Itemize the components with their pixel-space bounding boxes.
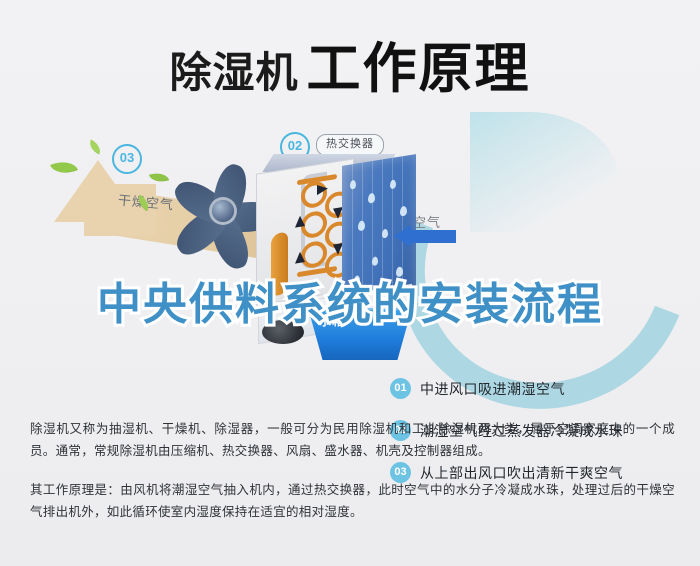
heat-exchanger-callout: 热交换器 (316, 134, 384, 156)
body-paragraph-2: 其工作原理是：由风机将潮湿空气抽入机内，通过热交换器，此时空气中的水分子冷凝成水… (30, 479, 675, 523)
flow-arrow-up-icon (295, 251, 305, 264)
infographic-page: 除湿机工作原理 潮湿空气 01 干燥空气 03 (0, 0, 700, 566)
dehumidifier-unit: 热交换器 02 (250, 138, 440, 368)
page-title-primary: 除湿机 (169, 49, 298, 96)
page-title: 除湿机工作原理 (0, 24, 700, 103)
article-body: 除湿机又称为抽湿机、干燥机、除湿器，一般可分为民用除湿机和工业除湿机两大类，属于… (30, 418, 675, 540)
overlay-headline: 中央供料系统的安装流程 (0, 268, 700, 332)
legend-item: 01 中进风口吸进潮湿空气 (390, 378, 690, 399)
air-intake-arrow-icon (410, 230, 456, 243)
fan-hub (212, 200, 234, 222)
page-title-secondary: 工作原理 (307, 39, 531, 99)
badge-03-icon: 03 (112, 144, 142, 174)
humid-air-arc-highlight (470, 112, 620, 232)
flow-arrow-right-icon (317, 183, 328, 195)
body-paragraph-1: 除湿机又称为抽湿机、干燥机、除湿器，一般可分为民用除湿机和工业除湿机两大类，属于… (30, 418, 675, 462)
legend-number-badge: 01 (390, 378, 411, 399)
dehumidifier-diagram: 潮湿空气 01 干燥空气 03 热交换器 02 (0, 120, 700, 400)
flow-arrow-up-icon (295, 215, 305, 228)
legend-item-label: 中进风口吸进潮湿空气 (420, 379, 565, 399)
